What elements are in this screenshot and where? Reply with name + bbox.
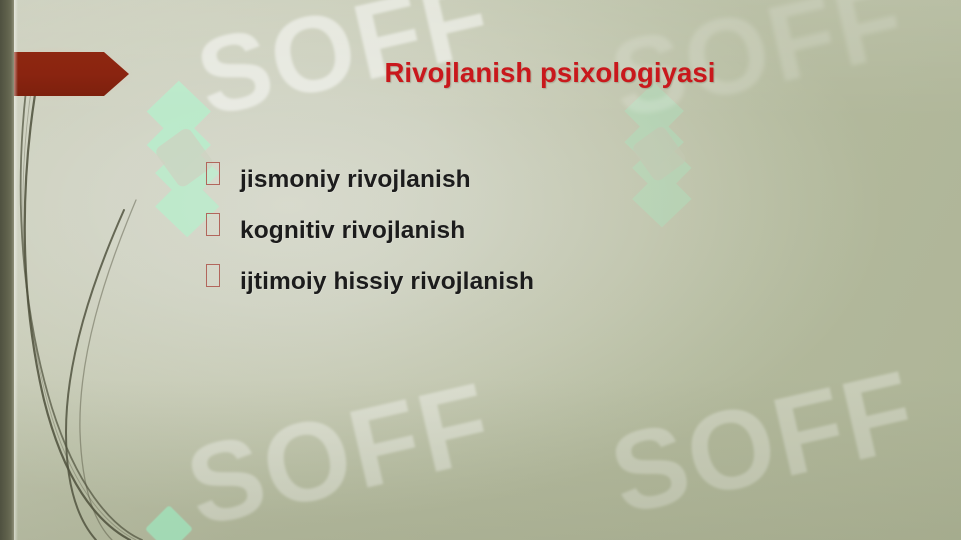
list-item-label: jismoniy rivojlanish: [240, 166, 471, 194]
left-edge-highlight: [14, 0, 18, 540]
missing-glyph-box-icon: [206, 213, 220, 236]
bullet-list: jismoniy rivojlanish kognitiv rivojlanis…: [206, 164, 826, 317]
missing-glyph-box-icon: [206, 162, 220, 185]
list-item-label: ijtimoiy hissiy rivojlanish: [240, 268, 534, 296]
list-item: kognitiv rivojlanish: [206, 215, 826, 266]
list-item: jismoniy rivojlanish: [206, 164, 826, 215]
list-item-label: kognitiv rivojlanish: [240, 217, 465, 245]
left-edge-strip: [0, 0, 14, 540]
missing-glyph-box-icon: [206, 264, 220, 287]
red-arrow-banner: [0, 52, 129, 96]
list-item: ijtimoiy hissiy rivojlanish: [206, 266, 826, 317]
slide-canvas: SOFF SOFF SOFF SOFF Rivojlanish psixolog…: [0, 0, 961, 540]
page-title: Rivojlanish psixologiyasi: [160, 57, 940, 89]
